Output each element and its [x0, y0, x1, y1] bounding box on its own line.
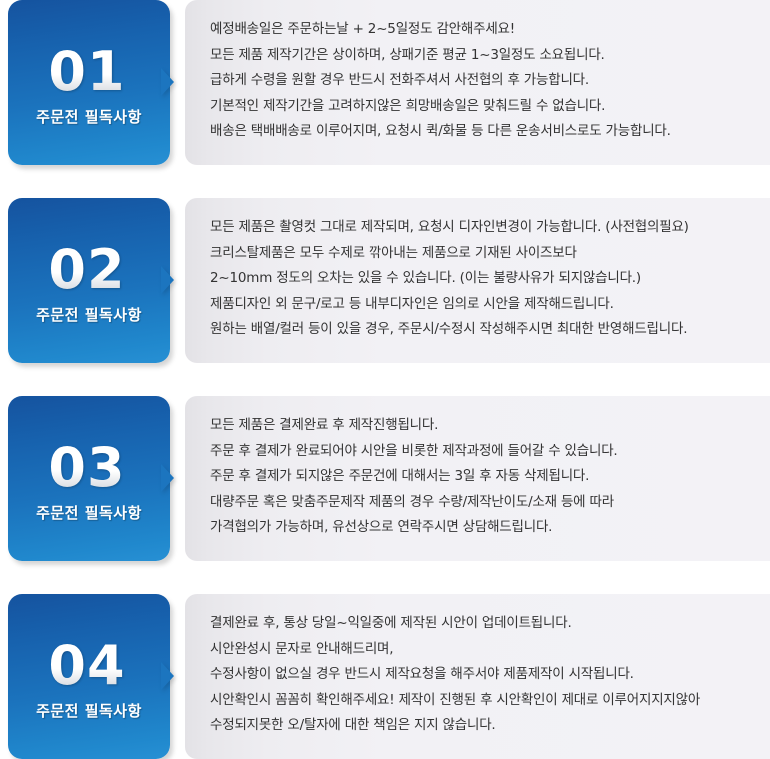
notice-badge-label: 주문전 필독사항	[36, 304, 142, 325]
notice-text-panel: 예정배송일은 주문하는날 + 2~5일정도 감안해주세요! 모든 제품 제작기간…	[185, 0, 770, 165]
notice-list: 01 주문전 필독사항 예정배송일은 주문하는날 + 2~5일정도 감안해주세요…	[0, 0, 770, 759]
notice-number: 03	[48, 441, 125, 495]
notice-text-panel: 모든 제품은 촬영컷 그대로 제작되며, 요청시 디자인변경이 가능합니다. (…	[185, 198, 770, 363]
notice-badge-label: 주문전 필독사항	[36, 502, 142, 523]
notice-badge-card: 01 주문전 필독사항	[8, 0, 170, 165]
notice-badge-inner: 01 주문전 필독사항	[8, 0, 170, 165]
badge-pointer-icon	[161, 464, 174, 492]
badge-pointer-icon	[161, 266, 174, 294]
notice-text-line: 원하는 배열/컬러 등이 있을 경우, 주문시/수정시 작성해주시면 최대한 반…	[210, 317, 770, 343]
notice-badge-card: 04 주문전 필독사항	[8, 594, 170, 759]
notice-text-line: 가격협의가 가능하며, 유선상으로 연락주시면 상담해드립니다.	[210, 515, 770, 541]
notice-text-line: 급하게 수령을 원할 경우 반드시 전화주셔서 사전협의 후 가능합니다.	[210, 68, 770, 94]
notice-text-line: 시안완성시 문자로 안내해드리며,	[210, 637, 770, 663]
notice-text-line: 모든 제품은 촬영컷 그대로 제작되며, 요청시 디자인변경이 가능합니다. (…	[210, 215, 770, 241]
notice-badge-card: 02 주문전 필독사항	[8, 198, 170, 363]
notice-badge-label: 주문전 필독사항	[36, 106, 142, 127]
notice-text-line: 모든 제품 제작기간은 상이하며, 상패기준 평균 1~3일정도 소요됩니다.	[210, 43, 770, 69]
notice-text-panel: 결제완료 후, 통상 당일~익일중에 제작된 시안이 업데이트됩니다. 시안완성…	[185, 594, 770, 759]
notice-row: 02 주문전 필독사항 모든 제품은 촬영컷 그대로 제작되며, 요청시 디자인…	[0, 198, 770, 363]
notice-text-line: 결제완료 후, 통상 당일~익일중에 제작된 시안이 업데이트됩니다.	[210, 611, 770, 637]
notice-row: 04 주문전 필독사항 결제완료 후, 통상 당일~익일중에 제작된 시안이 업…	[0, 594, 770, 759]
notice-text-line: 수정사항이 없으실 경우 반드시 제작요청을 해주서야 제품제작이 시작됩니다.	[210, 662, 770, 688]
notice-text-line: 크리스탈제품은 모두 수제로 깎아내는 제품으로 기재된 사이즈보다	[210, 241, 770, 267]
notice-badge-inner: 04 주문전 필독사항	[8, 594, 170, 759]
notice-row: 01 주문전 필독사항 예정배송일은 주문하는날 + 2~5일정도 감안해주세요…	[0, 0, 770, 165]
badge-pointer-icon	[161, 662, 174, 690]
notice-text-line: 대량주문 혹은 맞춤주문제작 제품의 경우 수량/제작난이도/소재 등에 따라	[210, 490, 770, 516]
notice-text-line: 기본적인 제작기간을 고려하지않은 희망배송일은 맞춰드릴 수 없습니다.	[210, 94, 770, 120]
notice-row: 03 주문전 필독사항 모든 제품은 결제완료 후 제작진행됩니다. 주문 후 …	[0, 396, 770, 561]
badge-pointer-icon	[161, 68, 174, 96]
notice-number: 01	[48, 45, 125, 99]
notice-number: 02	[48, 243, 125, 297]
notice-text-line: 제품디자인 외 문구/로고 등 내부디자인은 임의로 시안을 제작해드립니다.	[210, 292, 770, 318]
notice-text-line: 예정배송일은 주문하는날 + 2~5일정도 감안해주세요!	[210, 17, 770, 43]
notice-badge-inner: 03 주문전 필독사항	[8, 396, 170, 561]
notice-text-panel: 모든 제품은 결제완료 후 제작진행됩니다. 주문 후 결제가 완료되어야 시안…	[185, 396, 770, 561]
notice-text-line: 2~10mm 정도의 오차는 있을 수 있습니다. (이는 불량사유가 되지않습…	[210, 266, 770, 292]
notice-text-line: 시안확인시 꼼꼼히 확인해주세요! 제작이 진행된 후 시안확인이 제대로 이루…	[210, 688, 770, 714]
notice-text-line: 배송은 택배배송로 이루어지며, 요청시 퀵/화물 등 다른 운송서비스로도 가…	[210, 119, 770, 145]
notice-badge-label: 주문전 필독사항	[36, 700, 142, 721]
notice-number: 04	[48, 639, 125, 693]
notice-text-line: 모든 제품은 결제완료 후 제작진행됩니다.	[210, 413, 770, 439]
notice-badge-card: 03 주문전 필독사항	[8, 396, 170, 561]
notice-badge-inner: 02 주문전 필독사항	[8, 198, 170, 363]
notice-text-line: 주문 후 결제가 되지않은 주문건에 대해서는 3일 후 자동 삭제됩니다.	[210, 464, 770, 490]
notice-text-line: 주문 후 결제가 완료되어야 시안을 비롯한 제작과정에 들어갈 수 있습니다.	[210, 439, 770, 465]
notice-text-line: 수정되지못한 오/탈자에 대한 책임은 지지 않습니다.	[210, 713, 770, 739]
